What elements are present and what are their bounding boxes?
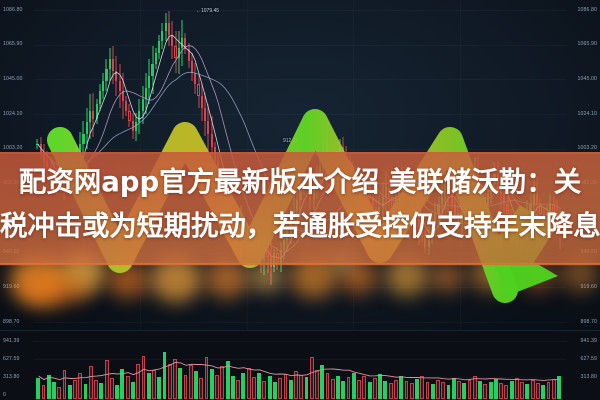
headline-line-1: 配资网app官方最新版本介绍 美联储沃勒：关 (0, 160, 600, 204)
banner-bottom-edge (0, 263, 600, 266)
stock-chart-banner-image: 1086.801065.901045.001024.101003.20982.3… (0, 0, 600, 400)
headline-text: 配资网app官方最新版本介绍 美联储沃勒：关 税冲击或为短期扰动，若通胀受控仍支… (0, 160, 600, 248)
headline-line-2: 税冲击或为短期扰动，若通胀受控仍支持年末降息 (0, 204, 600, 248)
